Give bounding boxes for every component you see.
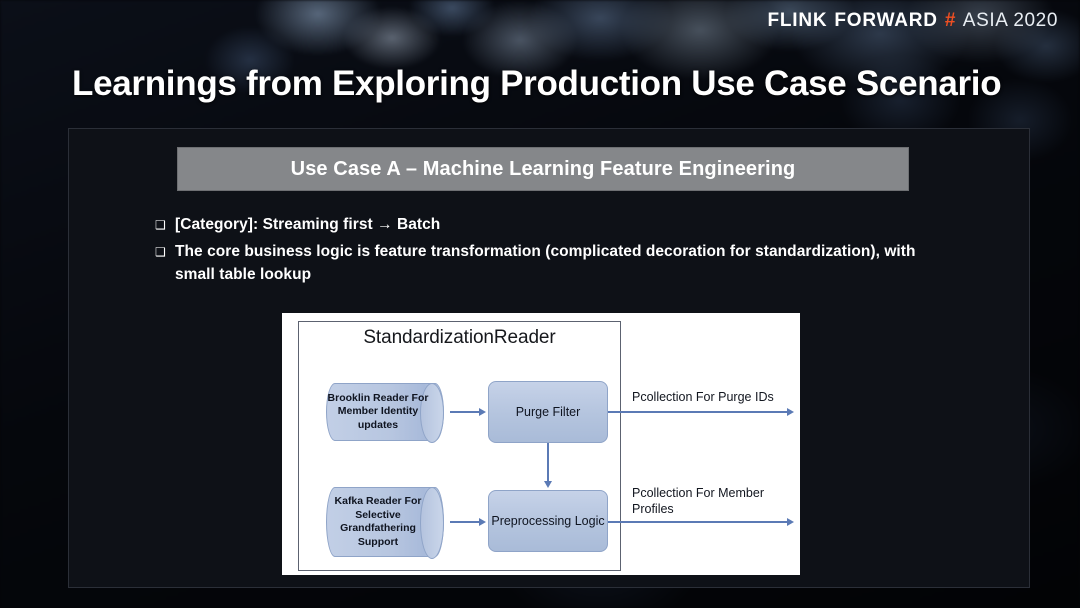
arrow-head-icon (787, 408, 794, 416)
logo-word-asia-2020: ASIA 2020 (963, 10, 1058, 32)
logo-hash-icon: # (945, 10, 956, 32)
arrow-purge-to-output (608, 411, 788, 413)
list-item-label: [Category]: Streaming first → Batch (175, 213, 440, 236)
arrow-brooklin-to-purge (450, 411, 480, 413)
logo-word-forward: FORWARD (834, 10, 937, 32)
preprocessing-logic-box: Preprocessing Logic (488, 490, 608, 552)
purge-ids-output-label: Pcollection For Purge IDs (632, 389, 807, 405)
purge-filter-label: Purge Filter (516, 404, 581, 420)
use-case-banner: Use Case A – Machine Learning Feature En… (177, 147, 909, 191)
architecture-diagram: StandardizationReader Brooklin Reader Fo… (282, 313, 800, 575)
list-item: ❑ The core business logic is feature tra… (155, 240, 955, 286)
arrow-preprocessing-to-output (608, 521, 788, 523)
list-item-label: The core business logic is feature trans… (175, 240, 955, 286)
logo-word-flink: FLINK (767, 10, 827, 32)
bullet-list: ❑ [Category]: Streaming first → Batch ❑ … (155, 213, 955, 290)
flink-forward-asia-logo: FLINK FORWARD # ASIA 2020 (767, 10, 1058, 32)
arrow-head-icon (787, 518, 794, 526)
page-title: Learnings from Exploring Production Use … (72, 64, 1001, 104)
list-item: ❑ [Category]: Streaming first → Batch (155, 213, 955, 236)
member-profiles-output-label: Pcollection For Member Profiles (632, 485, 782, 517)
use-case-banner-label: Use Case A – Machine Learning Feature En… (291, 158, 796, 181)
arrow-purge-to-preprocessing (547, 443, 549, 482)
preprocessing-logic-label: Preprocessing Logic (491, 513, 604, 529)
content-panel: Use Case A – Machine Learning Feature En… (68, 128, 1030, 588)
square-bullet-icon: ❑ (155, 213, 175, 236)
brooklin-reader-label: Brooklin Reader For Member Identity upda… (327, 392, 443, 433)
standardization-reader-title: StandardizationReader (298, 327, 621, 349)
arrow-head-icon (479, 408, 486, 416)
square-bullet-icon: ❑ (155, 240, 175, 263)
arrow-head-icon (479, 518, 486, 526)
arrow-head-icon (544, 481, 552, 488)
purge-filter-box: Purge Filter (488, 381, 608, 443)
brooklin-reader-source: Brooklin Reader For Member Identity upda… (326, 383, 444, 441)
kafka-reader-source: Kafka Reader For Selective Grandfatherin… (326, 487, 444, 557)
kafka-reader-label: Kafka Reader For Selective Grandfatherin… (327, 495, 443, 549)
arrow-kafka-to-preprocessing (450, 521, 480, 523)
